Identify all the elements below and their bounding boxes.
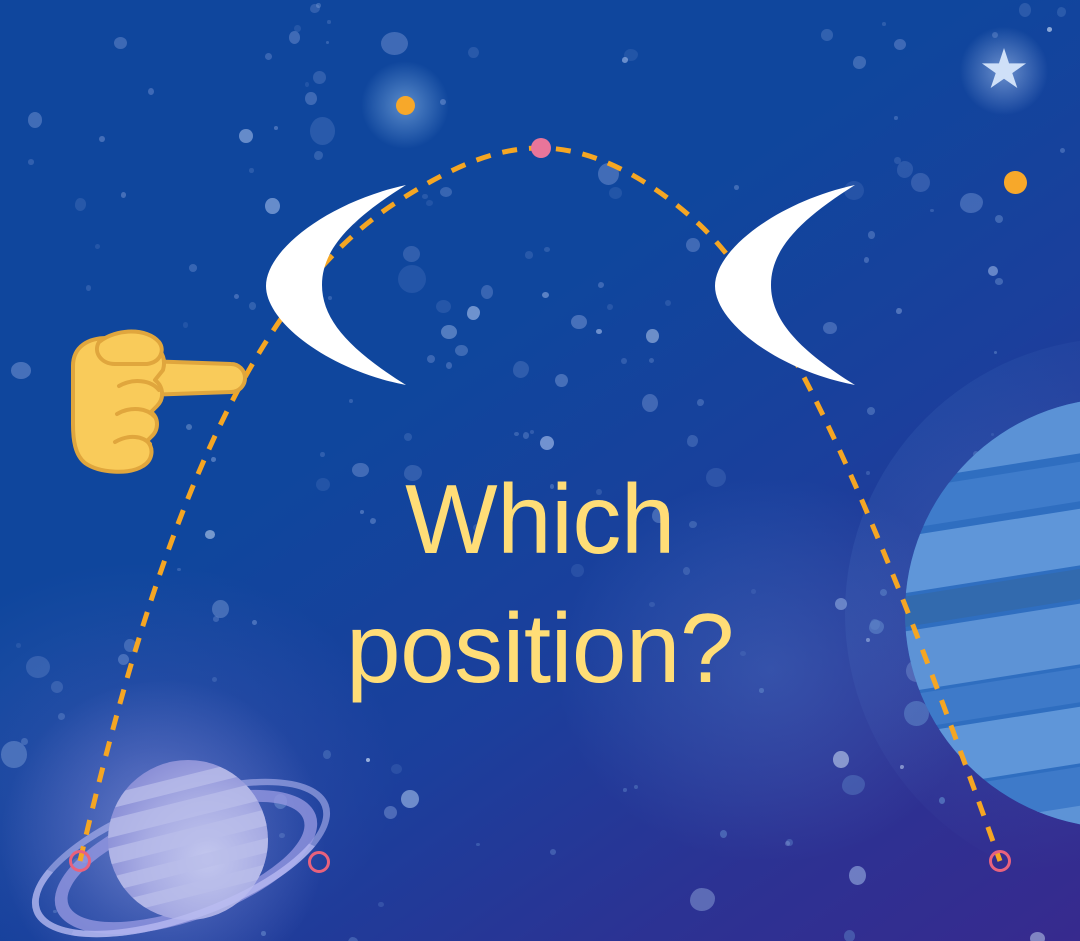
star-speck: [844, 930, 855, 941]
star-speck: [1019, 3, 1031, 17]
star-speck: [481, 285, 493, 299]
star-speck: [646, 329, 659, 343]
space-scene-canvas: Which position?: [0, 0, 1080, 941]
star-speck: [555, 374, 568, 387]
right-endpoint-marker[interactable]: [989, 850, 1011, 872]
star-speck: [249, 302, 256, 310]
star-speck: [249, 168, 254, 173]
star-speck: [1030, 932, 1045, 941]
star-speck: [900, 765, 904, 769]
star-speck: [391, 764, 402, 774]
star-speck: [542, 292, 549, 298]
star-speck: [867, 407, 875, 415]
left-endpoint-marker[interactable]: [69, 850, 91, 872]
star-speck: [476, 843, 480, 846]
star-speck: [894, 116, 898, 120]
star-speck: [121, 192, 126, 198]
star-speck: [634, 785, 638, 789]
star-speck: [446, 362, 452, 369]
star-speck: [422, 194, 428, 199]
star-speck: [697, 399, 704, 406]
star-speck: [86, 285, 91, 291]
star-speck: [1047, 27, 1052, 32]
star-speck: [114, 37, 127, 49]
star-speck: [864, 257, 869, 263]
star-speck: [687, 435, 698, 447]
star-speck: [621, 358, 627, 364]
star-speck: [525, 251, 533, 259]
star-speck: [349, 399, 353, 403]
star-speck: [468, 47, 479, 58]
star-speck: [607, 304, 613, 310]
apex-body-marker: [531, 138, 551, 158]
middle-endpoint-marker[interactable]: [308, 851, 330, 873]
star-speck: [289, 31, 300, 44]
star-speck: [649, 358, 654, 363]
star-speck: [988, 266, 998, 276]
star-speck: [544, 247, 550, 252]
crescent-moon-left: [258, 180, 413, 390]
star-speck: [686, 238, 700, 252]
star-speck: [455, 345, 468, 356]
star-speck: [896, 308, 902, 314]
saturn-planet: [30, 736, 310, 926]
star-speck: [401, 790, 419, 808]
star-speck: [642, 394, 658, 412]
star-speck: [426, 200, 433, 206]
star-speck: [960, 193, 983, 213]
star-speck: [441, 325, 457, 339]
star-speck: [310, 117, 335, 145]
star-speck: [571, 315, 587, 329]
star-speck: [378, 902, 384, 907]
star-speck: [327, 20, 331, 24]
star-speck: [868, 231, 875, 239]
star-speck: [381, 32, 408, 55]
star-speck: [234, 294, 239, 299]
star-speck: [894, 39, 906, 50]
crescent-moon-right: [705, 180, 863, 390]
star-speck: [28, 112, 42, 128]
star-speck: [849, 866, 866, 885]
star-speck: [853, 56, 866, 69]
star-speck: [305, 92, 317, 105]
star-speck: [623, 788, 627, 792]
star-speck: [305, 82, 309, 87]
star-speck: [720, 830, 727, 838]
glowing-orange-dot: [396, 96, 415, 115]
star-speck: [785, 841, 790, 846]
star-speck: [930, 209, 934, 212]
star-speck: [550, 849, 556, 855]
page-title: Which position?: [0, 455, 1080, 714]
star-speck: [598, 163, 619, 185]
star-speck: [239, 129, 253, 143]
star-speck: [366, 758, 370, 762]
star-speck: [28, 159, 34, 165]
star-speck: [833, 751, 849, 768]
star-speck: [821, 29, 833, 41]
star-speck: [99, 136, 105, 142]
star-speck: [11, 362, 31, 379]
star-speck: [609, 187, 622, 199]
star-speck: [316, 3, 321, 8]
star-speck: [1057, 7, 1066, 17]
star-speck: [995, 278, 1003, 285]
star-speck: [882, 22, 886, 26]
orange-dot: [1004, 171, 1027, 194]
star-speck: [911, 173, 930, 192]
